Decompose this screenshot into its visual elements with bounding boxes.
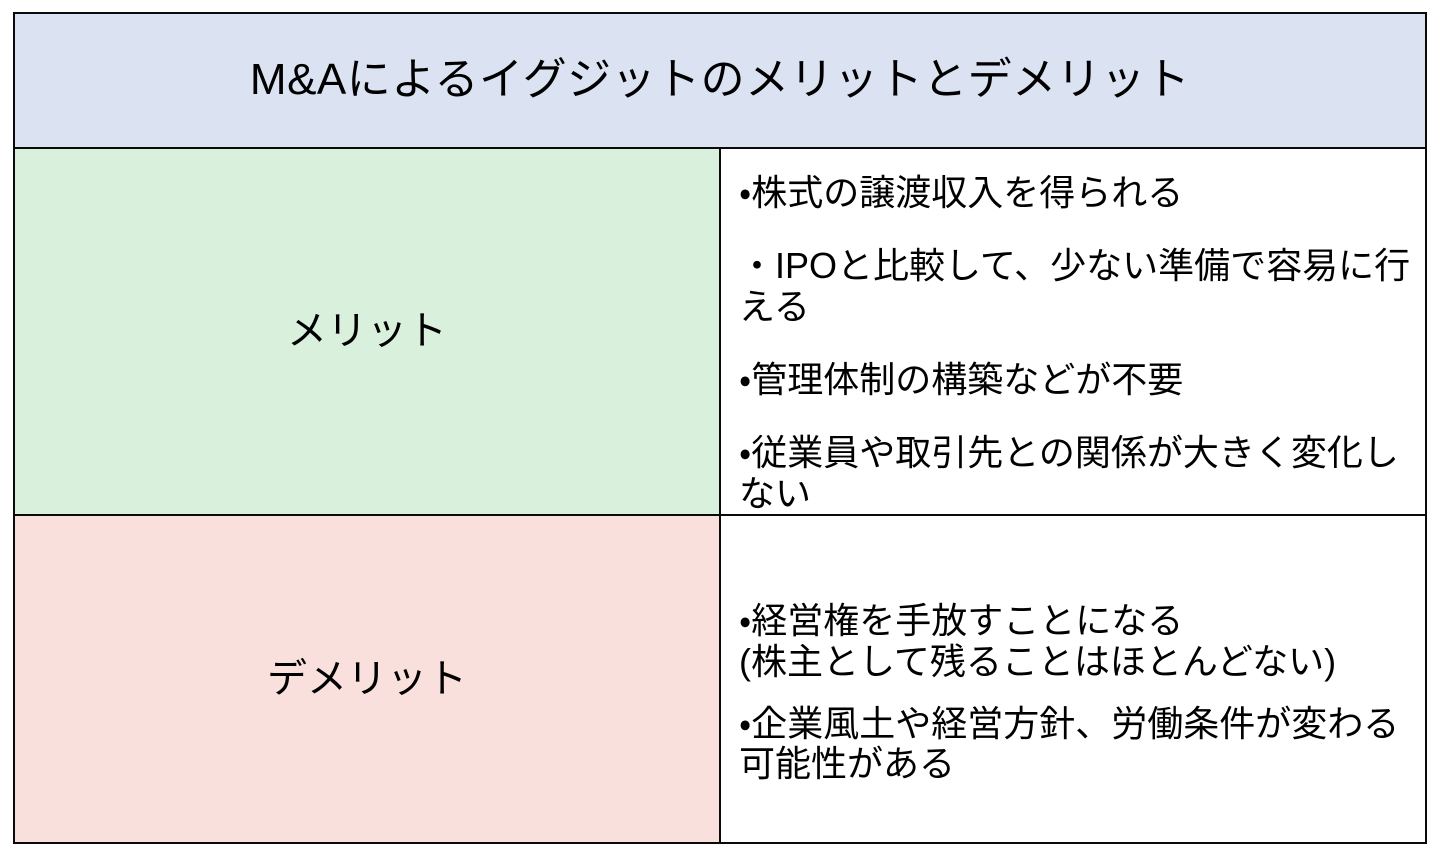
- table-row-merit: メリット ・株式の譲渡収入を得られる ・IPOと比較して、少ない準備で容易に行え…: [14, 148, 1426, 515]
- list-item: ・IPOと比較して、少ない準備で容易に行える: [739, 246, 1425, 327]
- row-label-merit-text: メリット: [15, 307, 719, 355]
- slide-canvas: M&Aによるイグジットのメリットとデメリット メリット ・株式の譲渡収入を得られ…: [0, 0, 1440, 810]
- list-item: ・経営権を手放すことになる (株主として残ることはほとんどない): [739, 601, 1425, 682]
- table-header-row: M&Aによるイグジットのメリットとデメリット: [14, 13, 1426, 148]
- merit-bullet-list: ・株式の譲渡収入を得られる ・IPOと比較して、少ない準備で容易に行える ・管理…: [721, 149, 1425, 514]
- list-item: ・企業風土や経営方針、労働条件が変わる 可能性がある: [739, 704, 1425, 785]
- row-label-merit: メリット: [14, 148, 720, 515]
- row-label-demerit: デメリット: [14, 515, 720, 843]
- row-content-demerit: ・経営権を手放すことになる (株主として残ることはほとんどない) ・企業風土や経…: [720, 515, 1426, 843]
- list-item: ・従業員や取引先との関係が大きく変化しない: [739, 433, 1425, 514]
- demerit-bullet-list: ・経営権を手放すことになる (株主として残ることはほとんどない) ・企業風土や経…: [721, 573, 1425, 784]
- page-title: M&Aによるイグジットのメリットとデメリット: [15, 56, 1425, 104]
- list-item: ・管理体制の構築などが不要: [739, 360, 1425, 400]
- table-row-demerit: デメリット ・経営権を手放すことになる (株主として残ることはほとんどない) ・…: [14, 515, 1426, 843]
- list-item: ・株式の譲渡収入を得られる: [739, 173, 1425, 213]
- table-title-cell: M&Aによるイグジットのメリットとデメリット: [14, 13, 1426, 148]
- row-content-merit: ・株式の譲渡収入を得られる ・IPOと比較して、少ない準備で容易に行える ・管理…: [720, 148, 1426, 515]
- row-label-demerit-text: デメリット: [15, 655, 719, 703]
- merit-demerit-table: M&Aによるイグジットのメリットとデメリット メリット ・株式の譲渡収入を得られ…: [13, 12, 1427, 844]
